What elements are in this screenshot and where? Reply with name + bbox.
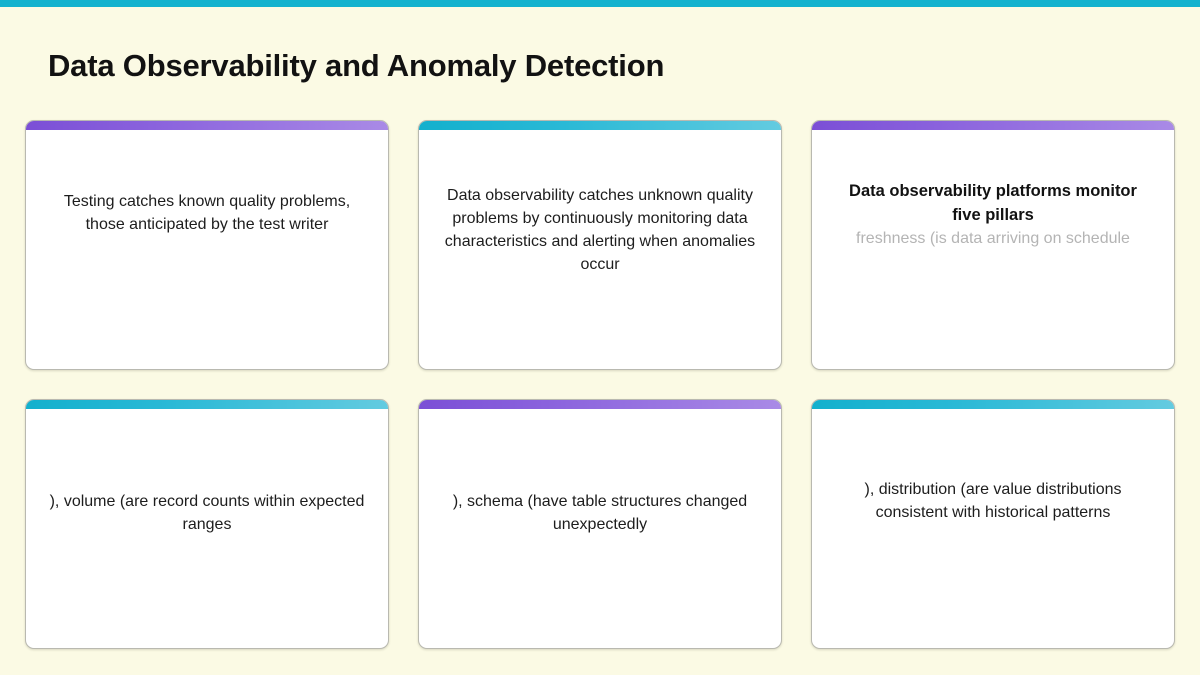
slide-canvas: Data Observability and Anomaly Detection…: [0, 0, 1200, 675]
page-title: Data Observability and Anomaly Detection: [48, 48, 664, 84]
card-text-4: ), volume (are record counts within expe…: [48, 490, 366, 536]
card-accent-bar-3: [812, 121, 1174, 130]
card-accent-bar-6: [812, 400, 1174, 409]
content-card-4[interactable]: ), volume (are record counts within expe…: [25, 399, 389, 649]
content-card-1[interactable]: Testing catches known quality problems, …: [25, 120, 389, 370]
content-card-6[interactable]: ), distribution (are value distributions…: [811, 399, 1175, 649]
content-card-3[interactable]: Data observability platforms monitor fiv…: [811, 120, 1175, 370]
card-accent-bar-4: [26, 400, 388, 409]
card-title-3: Data observability platforms monitor fiv…: [834, 179, 1152, 227]
card-accent-bar-1: [26, 121, 388, 130]
content-card-2[interactable]: Data observability catches unknown quali…: [418, 120, 782, 370]
card-body-4: ), volume (are record counts within expe…: [26, 490, 388, 536]
card-grid: Testing catches known quality problems, …: [25, 120, 1175, 649]
card-accent-bar-5: [419, 400, 781, 409]
card-accent-bar-2: [419, 121, 781, 130]
top-accent-stripe: [0, 0, 1200, 7]
content-card-5[interactable]: ), schema (have table structures changed…: [418, 399, 782, 649]
card-text-5: ), schema (have table structures changed…: [441, 490, 759, 536]
card-body-2: Data observability catches unknown quali…: [419, 184, 781, 276]
card-body-3: Data observability platforms monitor fiv…: [812, 179, 1174, 251]
card-body-1: Testing catches known quality problems, …: [26, 190, 388, 236]
card-body-5: ), schema (have table structures changed…: [419, 490, 781, 536]
card-text-6: ), distribution (are value distributions…: [834, 478, 1152, 524]
card-text-1: Testing catches known quality problems, …: [48, 190, 366, 236]
card-subtext-3: freshness (is data arriving on schedule: [834, 227, 1152, 251]
card-text-2: Data observability catches unknown quali…: [441, 184, 759, 276]
card-body-6: ), distribution (are value distributions…: [812, 478, 1174, 524]
